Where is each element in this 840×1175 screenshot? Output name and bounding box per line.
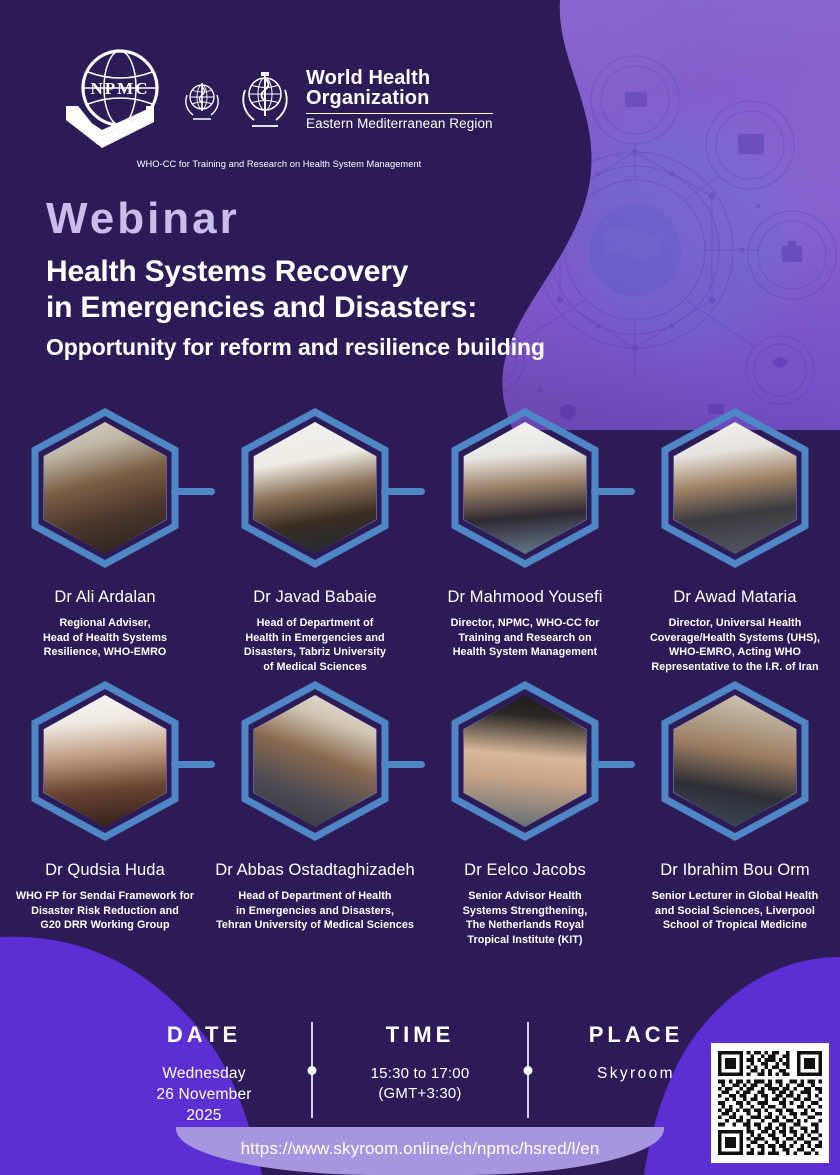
date-label: DATE (124, 1022, 284, 1048)
place-column: PLACE Skyroom (556, 1022, 716, 1085)
who-emblem-icon (234, 66, 296, 132)
speaker-name: Dr Awad Mataria (673, 588, 796, 607)
divider-dot (308, 1066, 317, 1075)
date-value: Wednesday26 November2025 (124, 1064, 284, 1127)
title-block: Webinar Health Systems Recovery in Emerg… (46, 196, 706, 362)
speaker-card-qudsia-huda: Dr Qudsia Huda WHO FP for Sendai Framewo… (0, 673, 210, 947)
speaker-hexagon-frame (437, 400, 613, 576)
speaker-hexagon-frame (647, 673, 823, 849)
speaker-role: Regional Adviser,Head of Health SystemsR… (37, 616, 173, 660)
speaker-card-ibrahim-bou-orm: Dr Ibrahim Bou Orm Senior Lecturer in Gl… (630, 673, 840, 947)
speaker-name: Dr Javad Babaie (253, 588, 377, 607)
speaker-card-awad-mataria: Dr Awad Mataria Director, Universal Heal… (630, 400, 840, 674)
speaker-role: Director, Universal HealthCoverage/Healt… (644, 616, 826, 674)
speaker-role: Head of Department ofHealth in Emergenci… (238, 616, 392, 674)
details-divider-1 (284, 1022, 340, 1118)
title-line-1: Health Systems Recovery (46, 254, 706, 289)
time-value: 15:30 to 17:00(GMT+3:30) (340, 1064, 500, 1105)
speaker-name: Dr Ibrahim Bou Orm (660, 861, 809, 880)
qr-code-icon[interactable] (718, 1050, 822, 1156)
speaker-card-abbas-ostadtaghizadeh: Dr Abbas Ostadtaghizadeh Head of Departm… (210, 673, 420, 947)
date-column: DATE Wednesday26 November2025 (124, 1022, 284, 1127)
place-label: PLACE (556, 1022, 716, 1048)
registration-url[interactable]: https://www.skyroom.online/ch/npmc/hsred… (241, 1139, 600, 1159)
time-column: TIME 15:30 to 17:00(GMT+3:30) (340, 1022, 500, 1105)
speaker-role: Director, NPMC, WHO-CC forTraining and R… (445, 616, 606, 660)
who-emblem-small-icon (180, 75, 224, 123)
who-region-label: Eastern Mediterranean Region (306, 117, 493, 131)
who-divider-rule (306, 113, 493, 114)
speaker-role: WHO FP for Sendai Framework forDisaster … (10, 889, 200, 933)
divider-dot (524, 1066, 533, 1075)
svg-text:NPMC: NPMC (91, 79, 150, 98)
speaker-name: Dr Mahmood Yousefi (448, 588, 603, 607)
speaker-card-ali-ardalan: Dr Ali Ardalan Regional Adviser,Head of … (0, 400, 210, 674)
qr-code[interactable] (711, 1043, 829, 1163)
speaker-hexagon-frame (437, 673, 613, 849)
speaker-name: Dr Eelco Jacobs (464, 861, 586, 880)
who-line-2: Organization (306, 88, 493, 108)
speaker-card-eelco-jacobs: Dr Eelco Jacobs Senior Advisor HealthSys… (420, 673, 630, 947)
speaker-hexagon-frame (227, 673, 403, 849)
details-divider-2 (500, 1022, 556, 1118)
speaker-name: Dr Qudsia Huda (45, 861, 165, 880)
speaker-name: Dr Abbas Ostadtaghizadeh (215, 861, 415, 880)
speaker-role: Senior Lecturer in Global Healthand Soci… (646, 889, 825, 933)
who-logo-block: World Health Organization Eastern Medite… (234, 66, 493, 132)
speaker-card-mahmood-yousefi: Dr Mahmood Yousefi Director, NPMC, WHO-C… (420, 400, 630, 674)
speaker-hexagon-frame (227, 400, 403, 576)
speaker-card-javad-babaie: Dr Javad Babaie Head of Department ofHea… (210, 400, 420, 674)
logo-row: NPMC (0, 44, 560, 154)
webinar-poster: NPMC (0, 0, 840, 1175)
who-line-1: World Health (306, 68, 493, 88)
speaker-name: Dr Ali Ardalan (54, 588, 155, 607)
who-cc-caption: WHO-CC for Training and Research on Heal… (0, 159, 500, 169)
speaker-hexagon-frame (647, 400, 823, 576)
poster-header: NPMC (0, 44, 560, 169)
webinar-kicker: Webinar (46, 196, 706, 242)
speakers-row-1: Dr Ali Ardalan Regional Adviser,Head of … (0, 400, 840, 674)
speaker-role: Head of Department of Healthin Emergenci… (210, 889, 420, 933)
who-wordmark: World Health Organization Eastern Medite… (306, 68, 493, 131)
time-label: TIME (340, 1022, 500, 1048)
speaker-hexagon-frame (17, 673, 193, 849)
place-value: Skyroom (556, 1064, 716, 1085)
npmc-logo: NPMC (58, 44, 170, 154)
speaker-role: Senior Advisor HealthSystems Strengtheni… (457, 889, 594, 947)
speakers-row-2: Dr Qudsia Huda WHO FP for Sendai Framewo… (0, 673, 840, 947)
title-line-2: in Emergencies and Disasters: (46, 290, 706, 325)
speaker-hexagon-frame (17, 400, 193, 576)
title-subtitle: Opportunity for reform and resilience bu… (46, 334, 706, 362)
